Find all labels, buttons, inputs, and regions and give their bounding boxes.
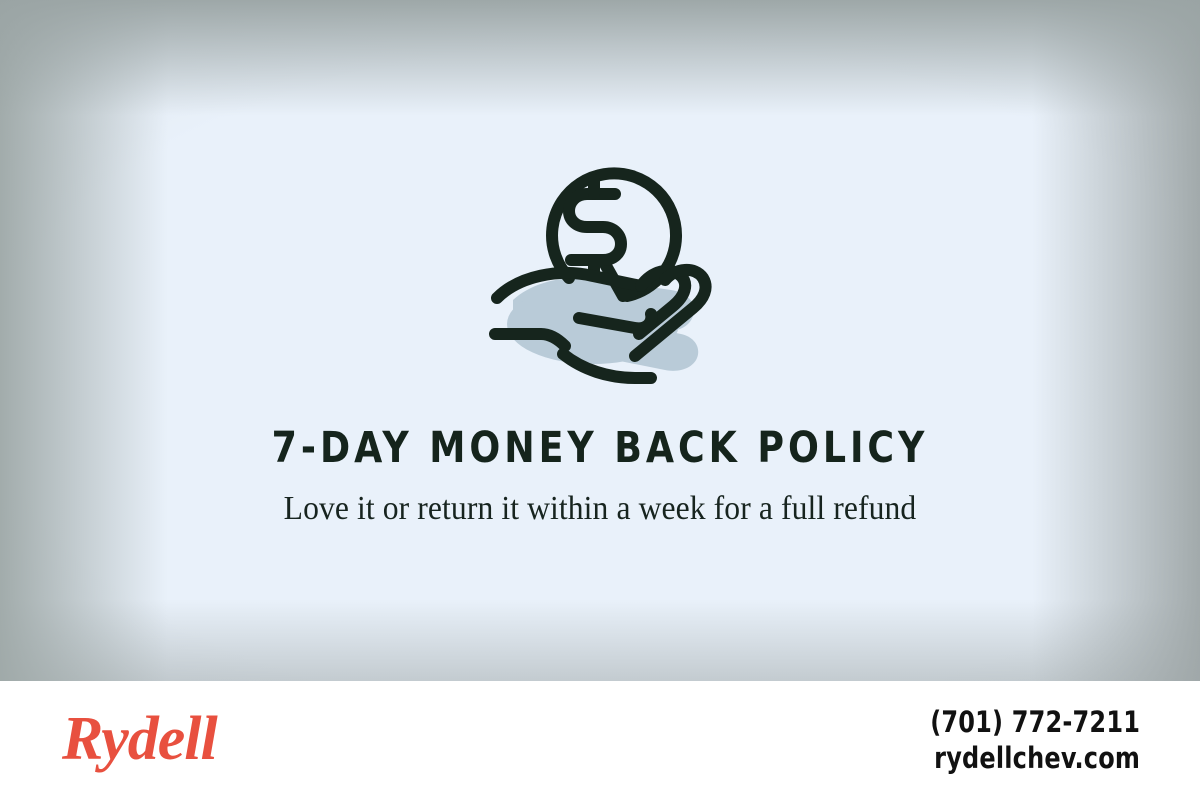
text-block: 7-DAY MONEY BACK POLICY Love it or retur… xyxy=(0,424,1200,532)
footer-bar: Rydell (701) 772-7211 rydellchev.com xyxy=(0,681,1200,800)
brand-logo[interactable]: Rydell xyxy=(62,708,217,770)
promo-card: 7-DAY MONEY BACK POLICY Love it or retur… xyxy=(0,0,1200,800)
dollar-sign-icon xyxy=(569,180,621,274)
icon-container xyxy=(0,152,1200,400)
money-back-hand-icon xyxy=(475,156,725,396)
page-title: 7-DAY MONEY BACK POLICY xyxy=(36,424,1164,473)
contact-website[interactable]: rydellchev.com xyxy=(930,741,1140,776)
contact-block: (701) 772-7211 rydellchev.com xyxy=(912,705,1140,776)
page-subtitle: Love it or return it within a week for a… xyxy=(275,487,926,532)
contact-phone[interactable]: (701) 772-7211 xyxy=(930,705,1140,740)
